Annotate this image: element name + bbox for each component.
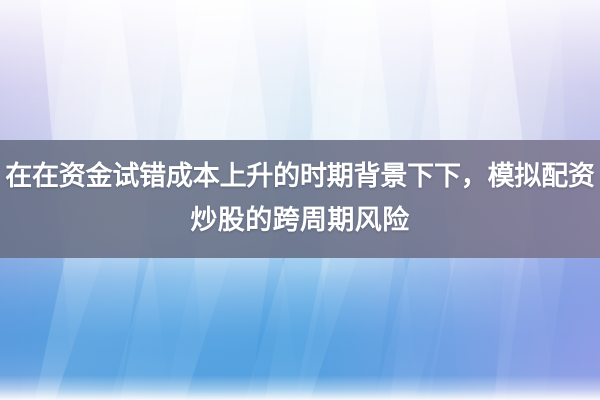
article-header-banner: 在在资金试错成本上升的时期背景下下，模拟配资 炒股的跨周期风险 bbox=[0, 0, 600, 400]
caption-overlay-band: 在在资金试错成本上升的时期背景下下，模拟配资 炒股的跨周期风险 bbox=[0, 140, 600, 258]
caption-text-block: 在在资金试错成本上升的时期背景下下，模拟配资 炒股的跨周期风险 bbox=[0, 155, 600, 243]
background-bottom-fade bbox=[0, 360, 600, 400]
caption-line-1: 在在资金试错成本上升的时期背景下下，模拟配资 bbox=[0, 155, 600, 199]
caption-line-2: 炒股的跨周期风险 bbox=[0, 199, 600, 243]
